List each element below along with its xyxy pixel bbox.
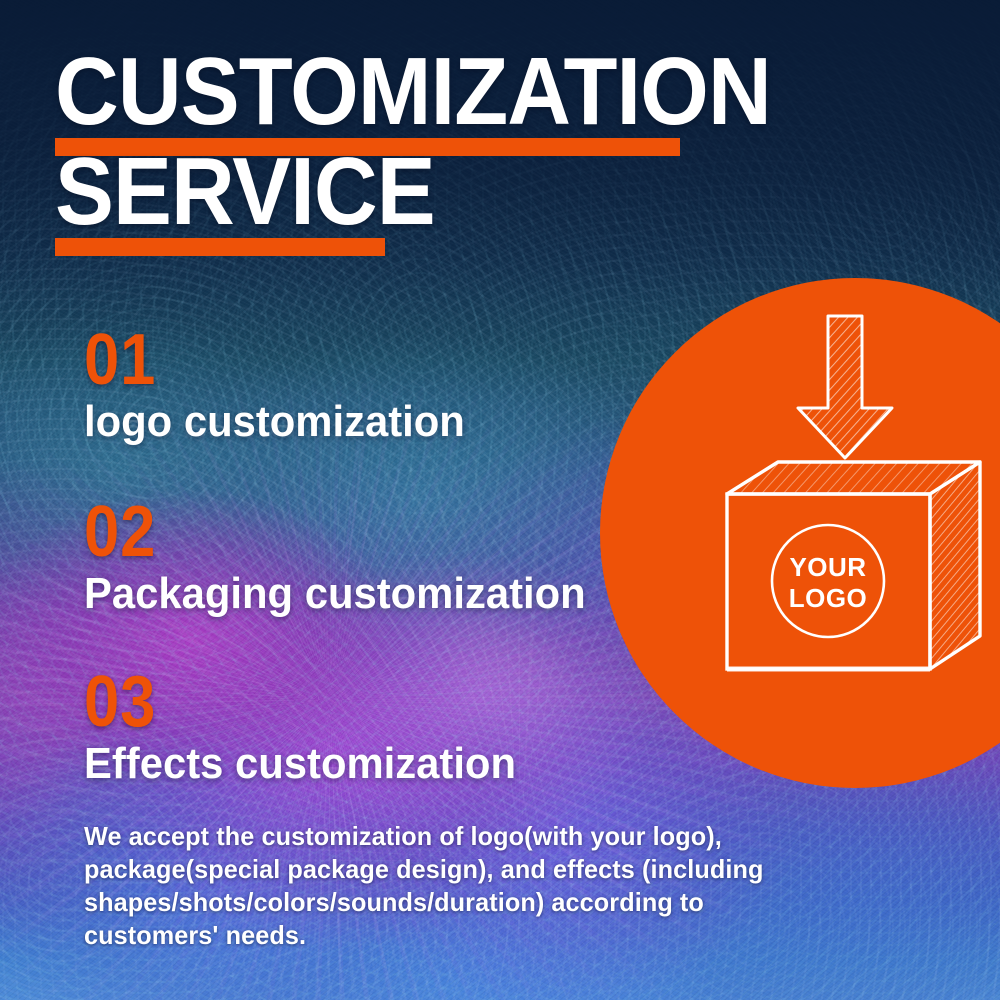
description-line-3: shapes/shots/colors/sounds/duration) acc… [84,886,831,919]
service-label-2: Packaging customization [84,570,586,618]
down-arrow-icon [798,316,892,458]
service-item-1: 01 logo customization logo customization [84,324,485,494]
service-label-1: logo customization [84,398,465,446]
service-item-2: 02 Packaging customization Packaging cus… [84,496,612,666]
logo-customization-graphic: YOUR LOGO [600,278,1000,788]
package-box-illustration: YOUR LOGO [600,278,1000,788]
service-number-3: 03 [84,666,484,738]
service-number-2: 02 [84,496,549,568]
headline-line-1: CUSTOMIZATION [55,44,771,140]
description-line-2: package(special package design), and eff… [84,853,831,886]
description-paragraph: We accept the customization of logo(with… [84,820,831,952]
your-logo-line-2: LOGO [789,583,868,613]
headline-line-2: SERVICE [55,144,771,240]
page-title: CUSTOMIZATION SERVICE [55,44,833,240]
service-item-3: 03 Effects customization Effects customi… [84,666,539,836]
your-logo-line-1: YOUR [789,552,866,582]
service-number-1: 01 [84,324,437,396]
service-label-3: Effects customization [84,740,516,788]
customization-service-banner: CUSTOMIZATION SERVICE 01 logo customizat… [0,0,1000,1000]
description-line-1: We accept the customization of logo(with… [84,820,831,853]
description-line-4: customers' needs. [84,919,831,952]
